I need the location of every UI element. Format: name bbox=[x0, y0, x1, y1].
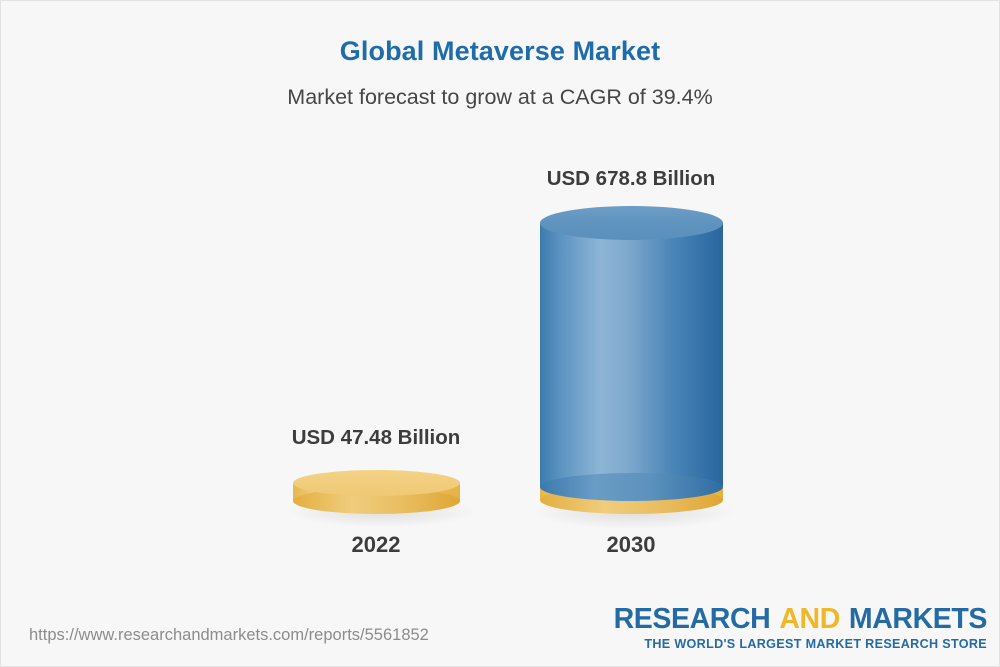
logo-text-and: AND bbox=[779, 603, 840, 635]
bar-value-label-2030: USD 678.8 Billion bbox=[501, 167, 761, 192]
chart-plot-area: USD 47.48 Billion 2022 USD 678.8 Billion bbox=[1, 1, 1000, 667]
bar-cylinder-2030[interactable] bbox=[540, 206, 723, 514]
brand-logo[interactable]: RESEARCHANDMARKETS THE WORLD'S LARGEST M… bbox=[614, 605, 987, 652]
cylinder-top-2022 bbox=[293, 470, 460, 496]
bar-year-label-2022: 2022 bbox=[246, 532, 506, 558]
bar-value-label-2022: USD 47.48 Billion bbox=[246, 426, 506, 451]
cylinder-body-2030 bbox=[540, 223, 723, 487]
infographic-canvas: Global Metaverse Market Market forecast … bbox=[0, 0, 1000, 667]
source-url[interactable]: https://www.researchandmarkets.com/repor… bbox=[29, 626, 429, 645]
logo-text-markets: MARKETS bbox=[849, 603, 987, 635]
bar-cylinder-2022[interactable] bbox=[293, 470, 460, 514]
cylinder-top-2030 bbox=[540, 206, 723, 240]
cylinder-joint-2030 bbox=[540, 473, 723, 501]
bar-year-label-2030: 2030 bbox=[501, 532, 761, 558]
logo-text-research: RESEARCH bbox=[614, 603, 771, 635]
logo-tagline: THE WORLD'S LARGEST MARKET RESEARCH STOR… bbox=[614, 635, 987, 652]
logo-wordmark: RESEARCHANDMARKETS bbox=[614, 605, 987, 635]
